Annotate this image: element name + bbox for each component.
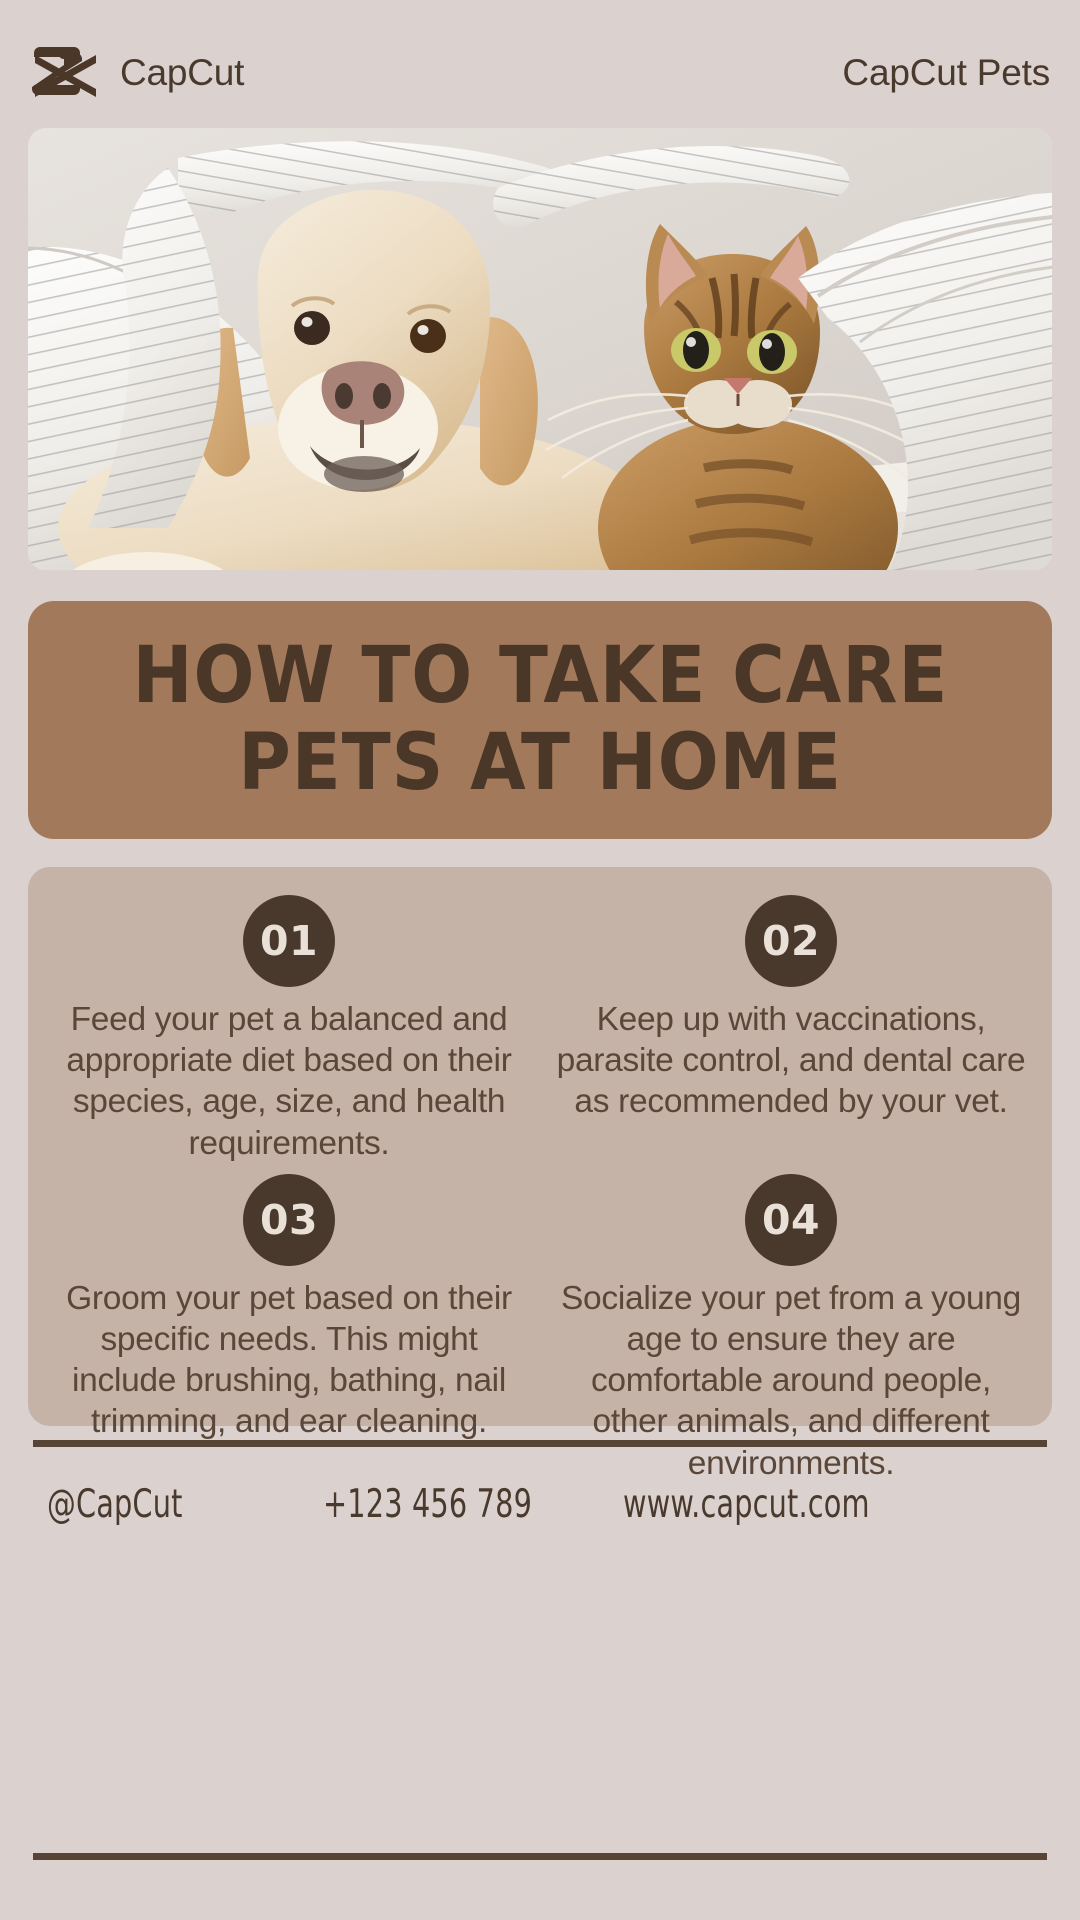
footer-divider-top [33,1440,1047,1447]
footer-handle[interactable]: @CapCut [47,1482,183,1527]
tip-text: Keep up with vaccinations, parasite cont… [548,999,1034,1123]
hero-photo [28,128,1052,570]
tip-text: Socialize your pet from a young age to e… [548,1278,1034,1484]
tip-number-badge: 02 [745,895,837,987]
tips-card: 01 Feed your pet a balanced and appropri… [28,867,1052,1426]
brand-name: CapCut [120,52,244,94]
title-line-1: HOW TO TAKE CARE [132,633,948,720]
brand-lockup[interactable]: CapCut [30,45,244,101]
tip-item-02: 02 Keep up with vaccinations, parasite c… [548,895,1034,1164]
footer-website[interactable]: www.capcut.com [623,1482,870,1527]
tip-text: Groom your pet based on their specific n… [46,1278,532,1443]
title-banner: HOW TO TAKE CARE PETS AT HOME [28,601,1052,839]
hero-illustration [28,128,1052,570]
tip-number-badge: 01 [243,895,335,987]
footer: @CapCut +123 456 789 www.capcut.com [33,1455,1047,1553]
footer-divider-bottom [33,1853,1047,1860]
footer-phone[interactable]: +123 456 789 [323,1482,532,1527]
tip-item-04: 04 Socialize your pet from a young age t… [548,1174,1034,1484]
tip-item-03: 03 Groom your pet based on their specifi… [46,1174,532,1484]
tip-number-badge: 03 [243,1174,335,1266]
page-header: CapCut CapCut Pets [30,40,1050,106]
capcut-logo-icon [30,45,102,101]
tip-item-01: 01 Feed your pet a balanced and appropri… [46,895,532,1164]
tip-number-badge: 04 [745,1174,837,1266]
header-right-label: CapCut Pets [842,52,1050,94]
title-line-2: PETS AT HOME [238,720,842,807]
tip-text: Feed your pet a balanced and appropriate… [46,999,532,1164]
